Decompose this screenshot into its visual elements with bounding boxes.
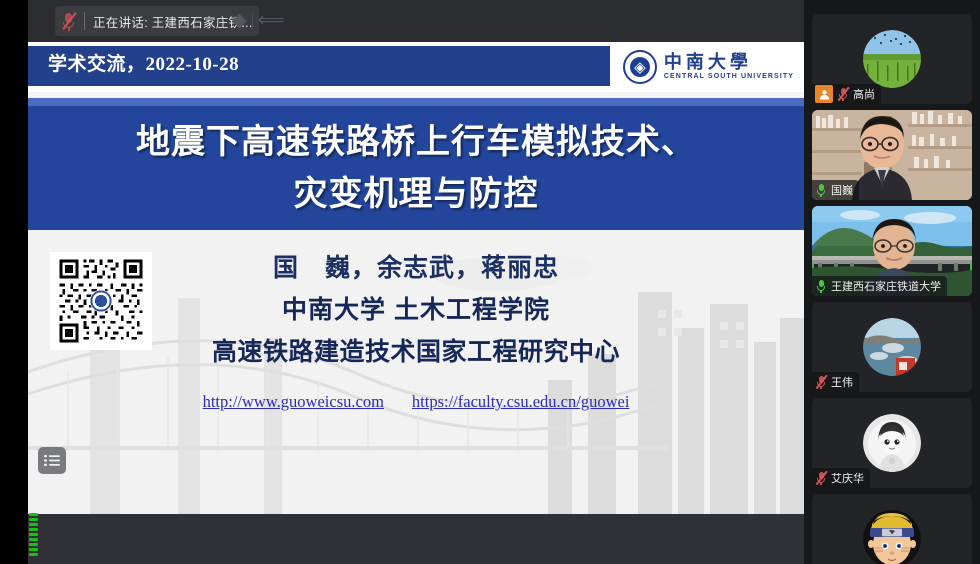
active-speaker-label: 正在讲话: 王建西石家庄铁...: [93, 12, 253, 31]
participant-tile[interactable]: 艾庆华: [812, 398, 972, 488]
mic-muted-icon[interactable]: [61, 12, 76, 31]
university-name-cn: 中南大學: [664, 52, 794, 72]
participant-name-badge: 国巍: [812, 180, 859, 200]
slide-title-band: 地震下高速铁路桥上行车模拟技术、 灾变机理与防控: [28, 106, 804, 230]
slide-links: http://www.guoweicsu.com https://faculty…: [28, 392, 804, 412]
slide-body: 国 巍，余志武，蒋丽忠 中南大学 土木工程学院 高速铁路建造技术国家工程研究中心…: [28, 230, 804, 514]
arrow-reply-icon[interactable]: ⟸: [258, 11, 285, 30]
list-icon[interactable]: [38, 447, 66, 474]
mic-muted-icon[interactable]: [837, 87, 849, 102]
university-logo-text: 中南大學 CENTRAL SOUTH UNIVERSITY: [664, 52, 794, 82]
arrow-separator: [252, 13, 253, 29]
participant-name-badge: 高尚: [812, 84, 881, 104]
chip-divider: [84, 12, 85, 30]
stage-bottom-letterbox: [28, 514, 804, 564]
participant-rail[interactable]: 高尚: [804, 0, 980, 564]
mic-active-icon[interactable]: [815, 279, 827, 294]
participant-name: 艾庆华: [831, 470, 864, 486]
slide-title-line-1: 地震下高速铁路桥上行车模拟技术、: [136, 118, 696, 166]
slide-header: 学术交流，2022-10-28 ◈ 中南大學 CENTRAL SOUTH UNI…: [28, 42, 804, 92]
mic-muted-icon[interactable]: [815, 471, 827, 486]
avatar: [863, 414, 921, 472]
meeting-top-bar: 正在讲话: 王建西石家庄铁... ◆ ⟸: [0, 0, 804, 42]
participant-name: 王伟: [831, 374, 853, 390]
university-name-en: CENTRAL SOUTH UNIVERSITY: [664, 72, 794, 82]
meter-segment: [29, 548, 38, 551]
participant-tile[interactable]: 国巍: [812, 110, 972, 200]
arrow-back-icon[interactable]: ◆: [232, 11, 247, 30]
avatar: [863, 318, 921, 376]
slide-title-line-2: 灾变机理与防控: [294, 170, 539, 218]
slide-link-personal-site[interactable]: http://www.guoweicsu.com: [203, 392, 384, 412]
meter-segment: [29, 543, 38, 546]
slide-authors-block: 国 巍，余志武，蒋丽忠 中南大学 土木工程学院 高速铁路建造技术国家工程研究中心: [28, 248, 804, 368]
avatar: [863, 510, 921, 564]
avatar: [863, 30, 921, 88]
meeting-screen: 正在讲话: 王建西石家庄铁... ◆ ⟸: [0, 0, 980, 564]
participant-tile[interactable]: 王伟: [812, 302, 972, 392]
university-logo: ◈ 中南大學 CENTRAL SOUTH UNIVERSITY: [623, 48, 794, 86]
host-badge-icon: [815, 85, 833, 103]
meter-segment: [29, 528, 38, 531]
stage-left-letterbox: [0, 42, 28, 564]
slide-author-line: 国 巍，余志武，蒋丽忠: [273, 248, 559, 284]
top-bar-left-padding: [0, 0, 28, 42]
participant-tile[interactable]: [812, 494, 972, 564]
participant-name: 王建西石家庄铁道大学: [831, 278, 941, 294]
participant-name-badge: 艾庆华: [812, 468, 870, 488]
participant-name: 国巍: [831, 182, 853, 198]
meter-segment: [29, 538, 38, 541]
participant-name-badge: 王建西石家庄铁道大学: [812, 276, 947, 296]
meter-segment: [29, 553, 38, 556]
active-speaker-chip[interactable]: 正在讲话: 王建西石家庄铁...: [55, 6, 259, 36]
mic-active-icon[interactable]: [815, 183, 827, 198]
top-bar-arrow-group: ◆ ⟸: [232, 11, 285, 30]
audio-level-meter: [29, 509, 38, 556]
slide-link-faculty-page[interactable]: https://faculty.csu.edu.cn/guowei: [412, 392, 630, 412]
slide-header-title: 学术交流，2022-10-28: [48, 42, 239, 82]
title-accent-strip: [28, 98, 804, 106]
meter-segment: [29, 518, 38, 521]
participant-name: 高尚: [853, 86, 875, 102]
meter-segment: [29, 513, 38, 516]
mic-muted-icon[interactable]: [815, 375, 827, 390]
university-seal-icon: ◈: [623, 50, 657, 84]
meter-segment: [29, 523, 38, 526]
slide-affiliation-2: 高速铁路建造技术国家工程研究中心: [212, 332, 620, 368]
participant-tile-active-speaker[interactable]: 王建西石家庄铁道大学: [812, 206, 972, 296]
participant-tile[interactable]: 高尚: [812, 14, 972, 104]
participant-name-badge: 王伟: [812, 372, 859, 392]
meter-segment: [29, 533, 38, 536]
presentation-slide: 学术交流，2022-10-28 ◈ 中南大學 CENTRAL SOUTH UNI…: [28, 42, 804, 514]
slide-affiliation-1: 中南大学 土木工程学院: [282, 290, 550, 326]
